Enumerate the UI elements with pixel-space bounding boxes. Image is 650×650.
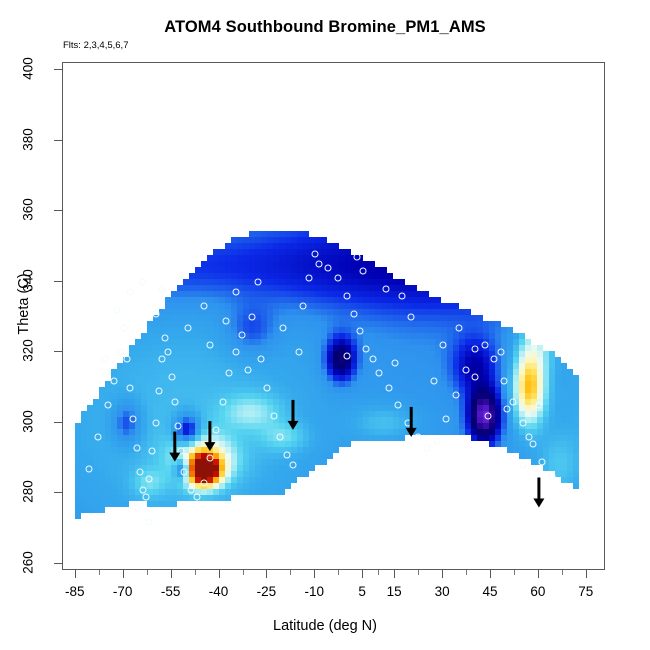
y-axis-title: Theta (C)	[16, 244, 32, 364]
x-axis-tick	[75, 570, 76, 578]
x-axis-tick	[219, 570, 220, 578]
x-axis-tick-label: -85	[65, 584, 85, 599]
y-axis-tick	[54, 422, 62, 423]
x-axis-minor-tick	[466, 570, 467, 575]
x-axis-tick	[123, 570, 124, 578]
x-axis-tick-label: 15	[387, 584, 402, 599]
x-axis-minor-tick	[514, 570, 515, 575]
page-title: ATOM4 Southbound Bromine_PM1_AMS	[0, 18, 650, 37]
x-axis-tick-label: 30	[435, 584, 450, 599]
x-axis-tick	[171, 570, 172, 578]
x-axis-minor-tick	[243, 570, 244, 575]
x-axis-tick-label: -25	[257, 584, 277, 599]
x-axis-tick	[362, 570, 363, 578]
x-axis-tick-label: -55	[161, 584, 181, 599]
x-axis-minor-tick	[378, 570, 379, 575]
y-axis-tick-label: 380	[21, 121, 36, 157]
x-axis-tick	[394, 570, 395, 578]
y-axis-tick-label: 280	[21, 474, 36, 510]
x-axis-tick	[490, 570, 491, 578]
x-axis-tick-label: 75	[578, 584, 593, 599]
y-axis-tick	[54, 563, 62, 564]
y-axis-tick	[54, 492, 62, 493]
x-axis-tick	[266, 570, 267, 578]
y-axis-tick-label: 300	[21, 403, 36, 439]
y-axis-tick	[54, 281, 62, 282]
x-axis-minor-tick	[418, 570, 419, 575]
plot-area	[62, 62, 605, 570]
x-axis-tick	[586, 570, 587, 578]
x-axis-tick	[314, 570, 315, 578]
x-axis-tick-label: 45	[482, 584, 497, 599]
x-axis-minor-tick	[99, 570, 100, 575]
x-axis-minor-tick	[195, 570, 196, 575]
x-axis-minor-tick	[338, 570, 339, 575]
heatmap-field	[63, 63, 605, 570]
x-axis-tick-label: -40	[209, 584, 229, 599]
x-axis-tick-label: -70	[113, 584, 133, 599]
x-axis-minor-tick	[290, 570, 291, 575]
x-axis-tick	[538, 570, 539, 578]
y-axis-tick-label: 360	[21, 192, 36, 228]
y-axis-tick	[54, 351, 62, 352]
figure-canvas: ATOM4 Southbound Bromine_PM1_AMS Flts: 2…	[0, 0, 650, 650]
x-axis-tick	[442, 570, 443, 578]
y-axis-tick	[54, 69, 62, 70]
flights-annotation: Flts: 2,3,4,5,6,7	[63, 40, 128, 51]
x-axis-title: Latitude (deg N)	[0, 618, 650, 634]
x-axis-minor-tick	[147, 570, 148, 575]
y-axis-tick-label: 400	[21, 51, 36, 87]
x-axis-tick-label: 5	[358, 584, 366, 599]
x-axis-minor-tick	[562, 570, 563, 575]
x-axis-tick-label: -10	[305, 584, 325, 599]
y-axis-tick	[54, 210, 62, 211]
y-axis-tick-label: 260	[21, 544, 36, 580]
x-axis-tick-label: 60	[530, 584, 545, 599]
y-axis-tick	[54, 140, 62, 141]
